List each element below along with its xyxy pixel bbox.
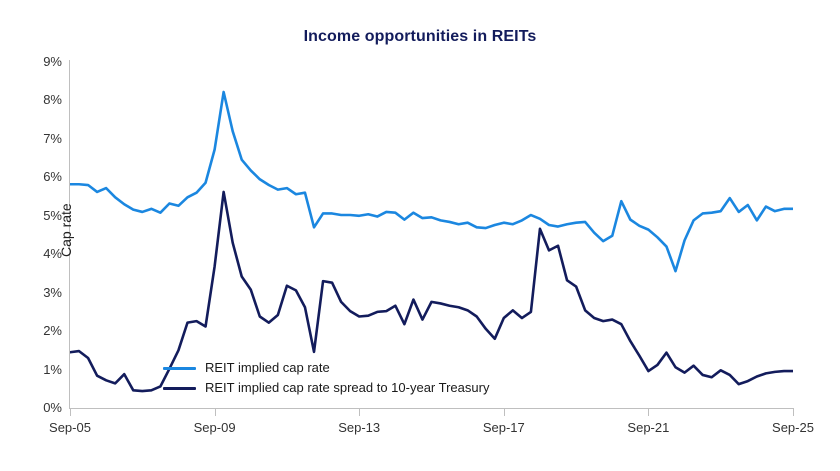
legend-item-2[interactable]: REIT implied cap rate spread to 10-year …: [163, 378, 489, 398]
x-axis-tick-label: Sep-25: [753, 420, 833, 435]
chart-title: Income opportunities in REITs: [0, 28, 840, 46]
y-axis-tick-label: 2%: [30, 323, 62, 338]
y-axis-tick-label: 3%: [30, 285, 62, 300]
y-axis-tick-label: 0%: [30, 400, 62, 415]
y-axis-tick-label: 8%: [30, 92, 62, 107]
series-lines: [70, 62, 793, 408]
chart-figure: Income opportunities in REITs 0%1%2%3%4%…: [0, 0, 840, 471]
x-axis-tick: [359, 409, 360, 416]
x-axis-tick-label: Sep-09: [175, 420, 255, 435]
y-axis-tick-labels: 0%1%2%3%4%5%6%7%8%9%: [26, 0, 62, 471]
legend-item-1[interactable]: REIT implied cap rate: [163, 358, 489, 378]
y-axis-tick-label: 6%: [30, 169, 62, 184]
plot-area: Cap rate: [70, 62, 793, 408]
x-axis-tick-label: Sep-21: [608, 420, 688, 435]
x-axis-tick: [70, 409, 71, 416]
series-line-1: [70, 92, 793, 271]
legend-swatch-icon: [163, 387, 196, 390]
y-axis-tick-label: 9%: [30, 54, 62, 69]
legend-item-label: REIT implied cap rate: [205, 358, 330, 378]
x-axis-tick: [793, 409, 794, 416]
x-axis-tick-label: Sep-05: [30, 420, 110, 435]
y-axis-tick-label: 1%: [30, 362, 62, 377]
x-axis-tick-label: Sep-13: [319, 420, 399, 435]
x-axis-tick-label: Sep-17: [464, 420, 544, 435]
x-axis-line: [69, 408, 794, 409]
y-axis-title: Cap rate: [58, 203, 74, 257]
x-axis-tick: [504, 409, 505, 416]
x-axis-tick: [648, 409, 649, 416]
chart-legend: REIT implied cap rateREIT implied cap ra…: [163, 358, 489, 398]
legend-item-label: REIT implied cap rate spread to 10-year …: [205, 378, 489, 398]
legend-swatch-icon: [163, 367, 196, 370]
x-axis-tick: [215, 409, 216, 416]
y-axis-tick-label: 7%: [30, 131, 62, 146]
